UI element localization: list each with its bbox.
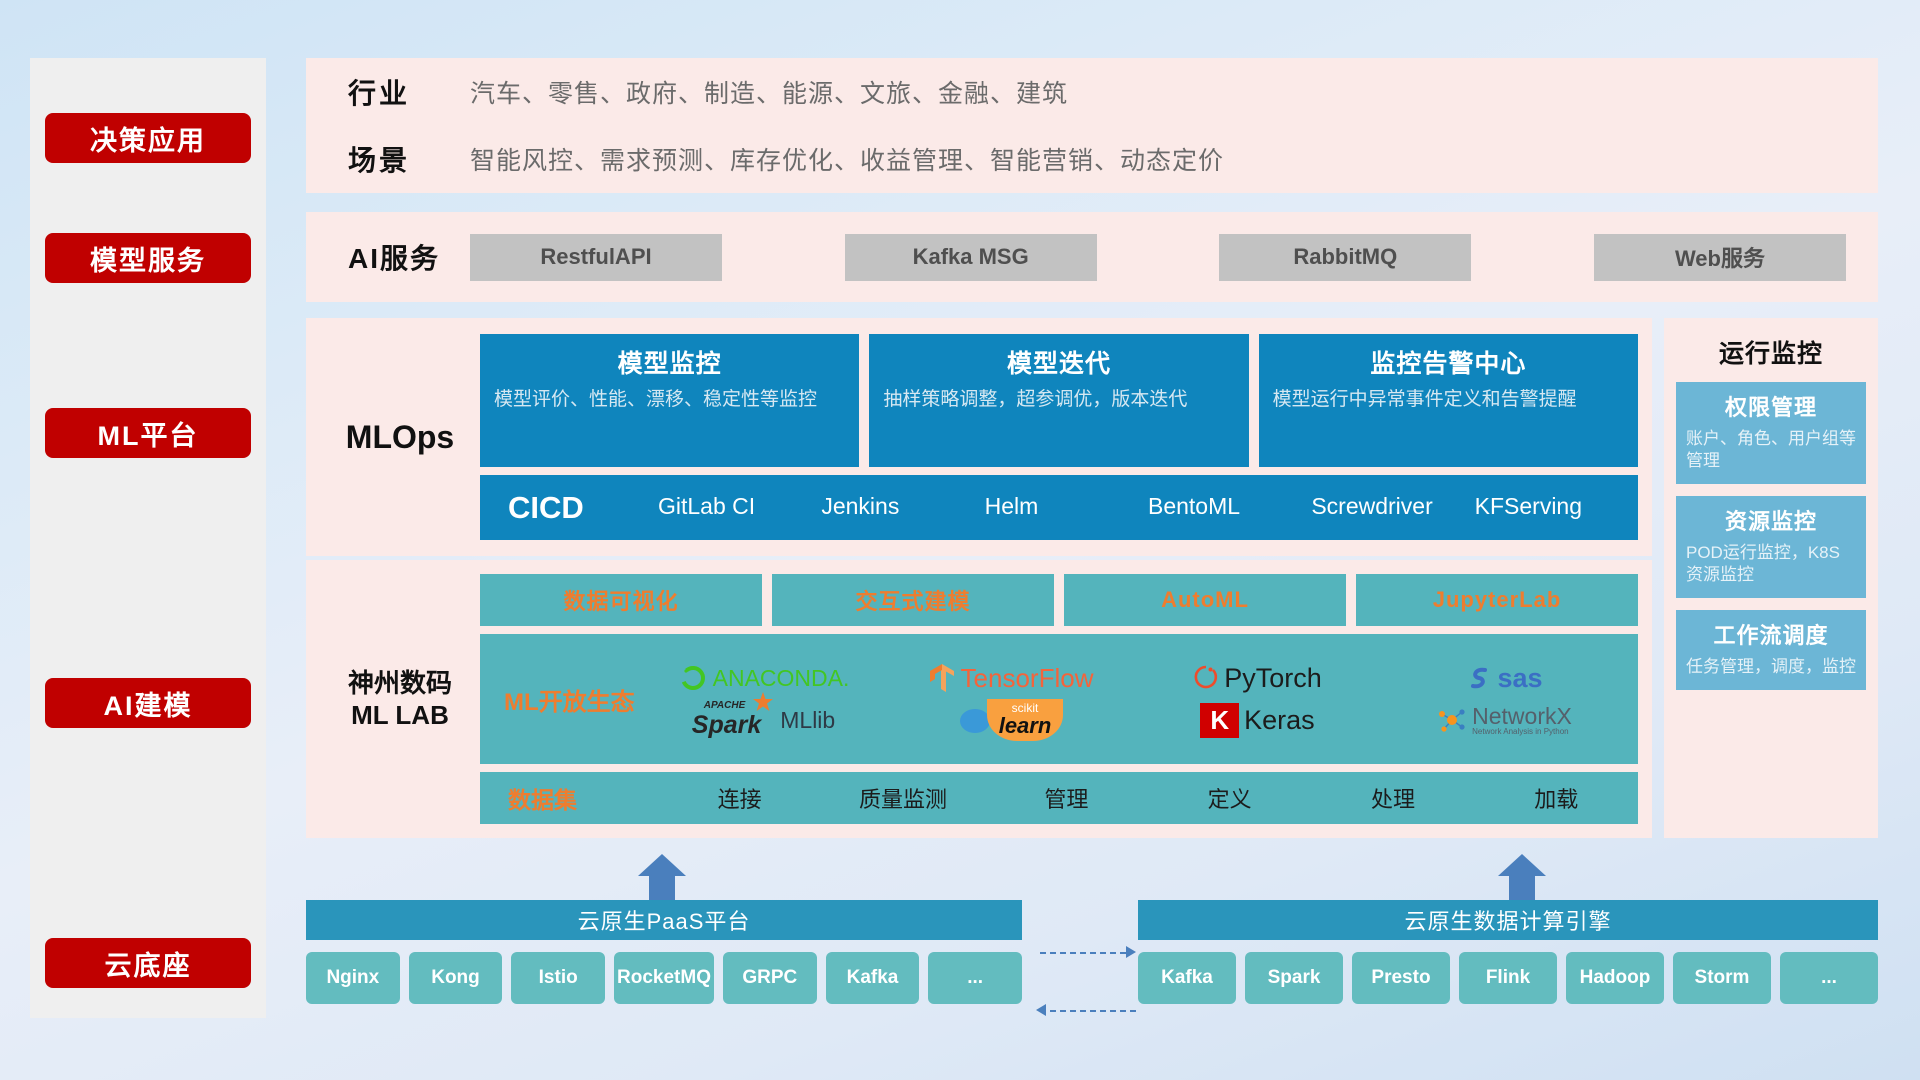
cicd-bar: CICD GitLab CI Jenkins Helm BentoML Scre… <box>480 475 1638 540</box>
modeling-tab-list: 数据可视化 交互式建模 AutoML JupyterLab <box>480 574 1638 626</box>
cloud-chip-nginx[interactable]: Nginx <box>306 952 400 1004</box>
tensorflow-label: TensorFlow <box>961 663 1094 694</box>
scenario-values: 智能风控、需求预测、库存优化、收益管理、智能营销、动态定价 <box>470 141 1224 177</box>
cloud-paas-header: 云原生PaaS平台 <box>306 900 1022 940</box>
dashed-connector-bottom <box>1050 1010 1136 1012</box>
cloud-engine-header: 云原生数据计算引擎 <box>1138 900 1878 940</box>
sas-label: sas <box>1497 663 1542 694</box>
dashed-arrow-right <box>1126 946 1136 958</box>
cicd-item-bentoml[interactable]: BentoML <box>1148 494 1311 522</box>
dataset-bar: 数据集 连接 质量监测 管理 定义 处理 加载 <box>480 772 1638 824</box>
dataset-label: 数据集 <box>508 781 658 815</box>
cicd-item-kfserving[interactable]: KFServing <box>1475 494 1638 522</box>
industry-values: 汽车、零售、政府、制造、能源、文旅、金融、建筑 <box>470 74 1068 110</box>
dataset-item-connect[interactable]: 连接 <box>658 782 821 814</box>
layer-chip-ai-modeling[interactable]: AI建模 <box>45 678 251 728</box>
decision-apps-panel: 行业 汽车、零售、政府、制造、能源、文旅、金融、建筑 场景 智能风控、需求预测、… <box>306 58 1878 193</box>
tensorflow-icon <box>928 662 956 694</box>
dataset-item-definition[interactable]: 定义 <box>1148 782 1311 814</box>
networkx-tagline: Network Analysis in Python <box>1472 728 1572 736</box>
card-desc: 任务管理，调度，监控 <box>1686 656 1856 678</box>
layer-chip-ml-platform[interactable]: ML平台 <box>45 408 251 458</box>
dataset-item-processing[interactable]: 处理 <box>1311 782 1474 814</box>
card-title: 模型迭代 <box>883 344 1234 380</box>
cloud-data-engine-group: 云原生数据计算引擎 Kafka Spark Presto Flink Hadoo… <box>1138 900 1878 1004</box>
ai-service-items: RestfulAPI Kafka MSG RabbitMQ Web服务 <box>470 234 1878 281</box>
tensorflow-logo: TensorFlow <box>928 662 1094 694</box>
cloud-chip-rocketmq[interactable]: RocketMQ <box>614 952 714 1004</box>
scikit-learn-logo: scikit learn <box>958 699 1064 741</box>
layer-chip-model-service[interactable]: 模型服务 <box>45 233 251 283</box>
modeling-tab-data-visualization[interactable]: 数据可视化 <box>480 574 762 626</box>
mlops-card-alert-center[interactable]: 监控告警中心 模型运行中异常事件定义和告警提醒 <box>1259 334 1638 467</box>
scenario-label: 场景 <box>348 139 470 179</box>
ecosystem-label: ML开放生态 <box>490 682 640 717</box>
keras-mark: K <box>1200 703 1239 738</box>
ai-service-panel: AI服务 RestfulAPI Kafka MSG RabbitMQ Web服务 <box>306 212 1878 302</box>
card-title: 资源监控 <box>1686 504 1856 536</box>
runtime-monitoring-panel: 运行监控 权限管理 账户、角色、用户组等管理 资源监控 POD运行监控，K8S资… <box>1664 318 1878 838</box>
card-desc: POD运行监控，K8S资源监控 <box>1686 542 1856 586</box>
modeling-tab-jupyterlab[interactable]: JupyterLab <box>1356 574 1638 626</box>
engine-chip-kafka[interactable]: Kafka <box>1138 952 1236 1004</box>
networkx-logo: NetworkX Network Analysis in Python <box>1437 705 1572 736</box>
modeling-tab-interactive-modeling[interactable]: 交互式建模 <box>772 574 1054 626</box>
cloud-paas-group: 云原生PaaS平台 Nginx Kong Istio RocketMQ GRPC… <box>306 900 1022 1004</box>
learn-label: learn <box>999 715 1052 737</box>
cloud-chip-more-left[interactable]: ... <box>928 952 1022 1004</box>
mlops-label: MLOps <box>320 334 480 540</box>
anaconda-icon <box>678 663 708 693</box>
mlops-card-model-monitoring[interactable]: 模型监控 模型评价、性能、漂移、稳定性等监控 <box>480 334 859 467</box>
ml-lab-label: 神州数码 ML LAB <box>320 574 480 824</box>
cicd-item-helm[interactable]: Helm <box>985 494 1148 522</box>
monitoring-title: 运行监控 <box>1676 334 1866 370</box>
layer-chip-decision-apps[interactable]: 决策应用 <box>45 113 251 163</box>
industry-row: 行业 汽车、零售、政府、制造、能源、文旅、金融、建筑 <box>306 58 1878 126</box>
dashed-connector-top <box>1040 952 1126 954</box>
dashed-arrow-left <box>1036 1004 1046 1016</box>
card-title: 权限管理 <box>1686 390 1856 422</box>
cloud-chip-istio[interactable]: Istio <box>511 952 605 1004</box>
pytorch-logo: PyTorch <box>1193 663 1322 694</box>
service-chip-web[interactable]: Web服务 <box>1594 234 1846 281</box>
service-chip-kafka-msg[interactable]: Kafka MSG <box>845 234 1097 281</box>
ai-modeling-panel: 神州数码 ML LAB 数据可视化 交互式建模 AutoML JupyterLa… <box>306 560 1652 838</box>
networkx-label: NetworkX <box>1472 703 1572 729</box>
mlops-panel: MLOps 模型监控 模型评价、性能、漂移、稳定性等监控 模型迭代 抽样策略调整… <box>306 318 1652 556</box>
networkx-icon <box>1437 705 1467 735</box>
cicd-item-jenkins[interactable]: Jenkins <box>821 494 984 522</box>
dataset-item-loading[interactable]: 加载 <box>1475 782 1638 814</box>
card-desc: 账户、角色、用户组等管理 <box>1686 428 1856 472</box>
cicd-item-screwdriver[interactable]: Screwdriver <box>1311 494 1474 522</box>
cicd-label: CICD <box>508 490 658 526</box>
engine-chip-presto[interactable]: Presto <box>1352 952 1450 1004</box>
monitor-card-resource-monitoring[interactable]: 资源监控 POD运行监控，K8S资源监控 <box>1676 496 1866 598</box>
sas-icon <box>1466 665 1492 691</box>
cloud-chip-kafka[interactable]: Kafka <box>826 952 920 1004</box>
industry-label: 行业 <box>348 72 470 112</box>
dataset-item-management[interactable]: 管理 <box>985 782 1148 814</box>
pytorch-label: PyTorch <box>1224 663 1322 694</box>
ml-lab-label-line1: 神州数码 <box>348 668 452 698</box>
service-chip-restfulapi[interactable]: RestfulAPI <box>470 234 722 281</box>
scenario-row: 场景 智能风控、需求预测、库存优化、收益管理、智能营销、动态定价 <box>306 126 1878 194</box>
cicd-item-gitlab-ci[interactable]: GitLab CI <box>658 494 821 522</box>
spark-star-icon <box>753 692 773 712</box>
card-title: 工作流调度 <box>1686 618 1856 650</box>
ml-lab-label-line2: ML LAB <box>351 700 449 730</box>
spark-label: Spark <box>692 711 761 739</box>
engine-chip-flink[interactable]: Flink <box>1459 952 1557 1004</box>
anaconda-logo: ANACONDA. <box>678 663 850 693</box>
spark-mllib-logo: APACHE Spark MLlib <box>692 700 835 740</box>
sas-logo: sas <box>1466 663 1542 694</box>
card-desc: 模型评价、性能、漂移、稳定性等监控 <box>494 388 845 412</box>
monitor-card-permission-management[interactable]: 权限管理 账户、角色、用户组等管理 <box>1676 382 1866 484</box>
layer-rail: 决策应用 模型服务 ML平台 AI建模 云底座 <box>30 58 266 1018</box>
card-title: 模型监控 <box>494 344 845 380</box>
layer-chip-cloud-base[interactable]: 云底座 <box>45 938 251 988</box>
dataset-item-quality-monitoring[interactable]: 质量监测 <box>821 782 984 814</box>
engine-chip-hadoop[interactable]: Hadoop <box>1566 952 1664 1004</box>
ml-open-ecosystem: ML开放生态 ANACONDA. <box>480 634 1638 764</box>
engine-chip-more-right[interactable]: ... <box>1780 952 1878 1004</box>
engine-chip-spark[interactable]: Spark <box>1245 952 1343 1004</box>
ai-service-label: AI服务 <box>348 237 470 277</box>
mlops-card-model-iteration[interactable]: 模型迭代 抽样策略调整，超参调优，版本迭代 <box>869 334 1248 467</box>
card-desc: 模型运行中异常事件定义和告警提醒 <box>1273 388 1624 412</box>
engine-chip-storm[interactable]: Storm <box>1673 952 1771 1004</box>
keras-logo: K Keras <box>1200 703 1314 738</box>
pytorch-icon <box>1193 663 1219 693</box>
mlops-card-list: 模型监控 模型评价、性能、漂移、稳定性等监控 模型迭代 抽样策略调整，超参调优，… <box>480 334 1638 467</box>
card-desc: 抽样策略调整，超参调优，版本迭代 <box>883 388 1234 412</box>
modeling-tab-automl[interactable]: AutoML <box>1064 574 1346 626</box>
cloud-chip-kong[interactable]: Kong <box>409 952 503 1004</box>
card-title: 监控告警中心 <box>1273 344 1624 380</box>
cloud-chip-grpc[interactable]: GRPC <box>723 952 817 1004</box>
mllib-label: MLlib <box>780 707 835 734</box>
service-chip-rabbitmq[interactable]: RabbitMQ <box>1219 234 1471 281</box>
anaconda-label: ANACONDA. <box>713 665 850 692</box>
keras-label: Keras <box>1244 705 1315 736</box>
monitor-card-workflow-scheduling[interactable]: 工作流调度 任务管理，调度，监控 <box>1676 610 1866 690</box>
